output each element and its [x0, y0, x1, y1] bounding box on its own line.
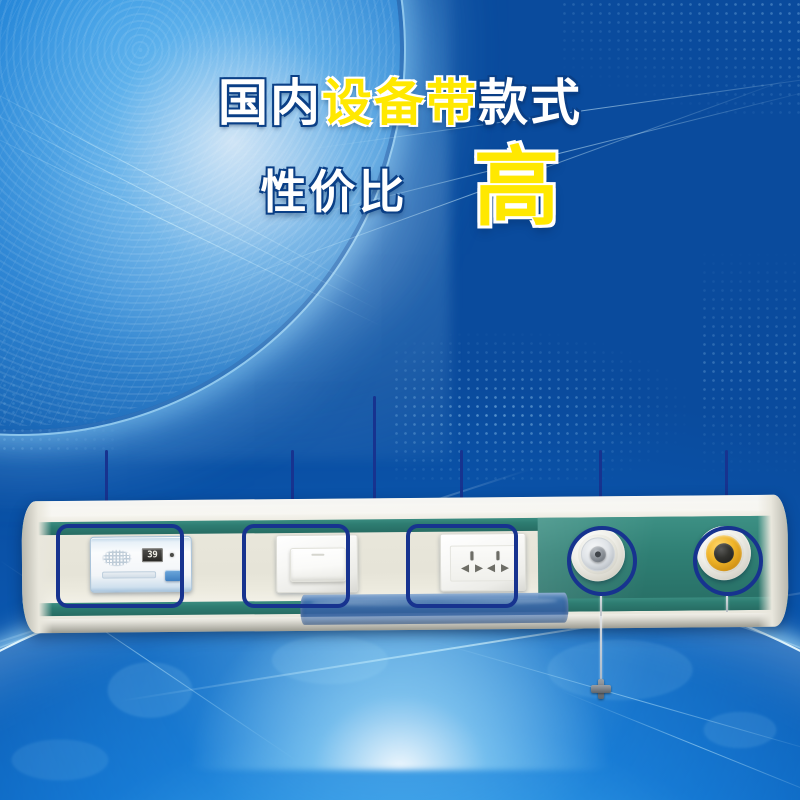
socket-pin-right-icon — [501, 564, 509, 572]
call-pendant-connector[interactable] — [590, 678, 612, 700]
suction-port-hub[interactable] — [714, 543, 734, 563]
oxygen-port-hub[interactable] — [590, 546, 606, 562]
socket-pin-vertical-icon — [496, 551, 499, 560]
suction-cord-upper — [726, 596, 728, 612]
switch-notch-icon — [311, 554, 324, 556]
light-streak-0 — [0, 74, 375, 296]
light-streak-1 — [0, 96, 379, 310]
light-streak-4 — [250, 85, 800, 231]
oxygen-cord — [600, 596, 602, 618]
intercom-label-slot — [102, 571, 156, 578]
socket-outlet-right[interactable] — [486, 551, 510, 577]
bedhead-panel: 39 — [22, 498, 788, 630]
light-streak-5 — [180, 74, 800, 301]
socket-pin-left-icon — [487, 564, 495, 572]
socket-pin-vertical-icon — [470, 551, 473, 560]
suction-terminal[interactable] — [697, 526, 751, 580]
power-switch[interactable] — [276, 534, 359, 593]
oxygen-terminal[interactable] — [571, 527, 625, 581]
power-socket[interactable] — [440, 533, 527, 592]
socket-pin-right-icon — [475, 564, 483, 572]
socket-outlet-left[interactable] — [460, 551, 484, 577]
panel-endcap-right — [757, 495, 788, 627]
switch-rocker[interactable] — [290, 548, 346, 582]
indicator-led-icon — [170, 553, 174, 557]
panel-endcap-left — [21, 501, 52, 633]
socket-face — [450, 545, 518, 582]
product-banner: 国内设备带款式 性价比 高 床头灯呼叫对讲机分机电源开关电源插座氧气终端吸引终端… — [0, 0, 800, 800]
panel-body: 39 — [21, 495, 788, 634]
socket-pin-left-icon — [461, 564, 469, 572]
intercom-call-button[interactable] — [165, 570, 181, 581]
speaker-grille-icon — [102, 549, 132, 566]
intercom-display: 39 — [142, 548, 163, 562]
nurse-call-intercom[interactable]: 39 — [90, 536, 192, 593]
panel-top-bevel — [21, 495, 787, 518]
